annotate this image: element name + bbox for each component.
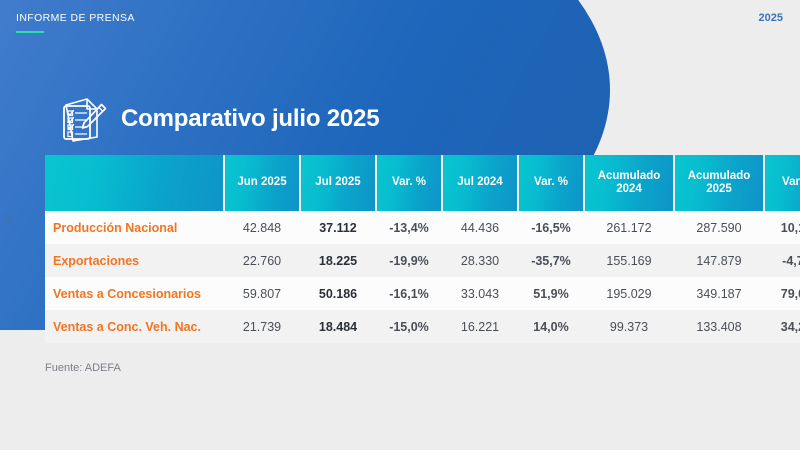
column-header-var3: Var. %	[764, 155, 800, 211]
column-header-acum2024: Acumulado 2024	[584, 155, 674, 211]
cell-jul2025: 50.186	[300, 277, 376, 310]
cell-acum2024: 195.029	[584, 277, 674, 310]
cell-var3: 10,1%	[764, 211, 800, 244]
row-label: Producción Nacional	[45, 211, 224, 244]
source-note: Fuente: ADEFA	[45, 362, 121, 374]
table-header: Jun 2025 Jul 2025 Var. % Jul 2024 Var. %…	[45, 155, 800, 211]
cell-jul2024: 16.221	[442, 310, 518, 343]
accent-underline	[16, 31, 44, 33]
table-header-row: Jun 2025 Jul 2025 Var. % Jul 2024 Var. %…	[45, 155, 800, 211]
clipboard-checklist-pencil-icon	[57, 93, 109, 145]
cell-acum2025: 133.408	[674, 310, 764, 343]
cell-var1: -16,1%	[376, 277, 442, 310]
column-header-jul2024: Jul 2024	[442, 155, 518, 211]
page-number: 60	[4, 212, 16, 224]
cell-jul2025: 18.225	[300, 244, 376, 277]
table-body: Producción Nacional 42.848 37.112 -13,4%…	[45, 211, 800, 343]
table-row: Exportaciones 22.760 18.225 -19,9% 28.33…	[45, 244, 800, 277]
cell-jun2025: 59.807	[224, 277, 300, 310]
cell-acum2024: 99.373	[584, 310, 674, 343]
cell-var3: -4,7%	[764, 244, 800, 277]
cell-jul2024: 28.330	[442, 244, 518, 277]
cell-var3: 79,0%	[764, 277, 800, 310]
slide-title-block: Comparativo julio 2025	[57, 93, 379, 145]
cell-var1: -13,4%	[376, 211, 442, 244]
table-row: Ventas a Concesionarios 59.807 50.186 -1…	[45, 277, 800, 310]
column-header-label	[45, 155, 224, 211]
cell-acum2024: 155.169	[584, 244, 674, 277]
cell-jul2025: 18.484	[300, 310, 376, 343]
cell-acum2025: 287.590	[674, 211, 764, 244]
cell-var2: 51,9%	[518, 277, 584, 310]
column-header-jul2025: Jul 2025	[300, 155, 376, 211]
column-header-var2: Var. %	[518, 155, 584, 211]
comparison-table-container: Jun 2025 Jul 2025 Var. % Jul 2024 Var. %…	[45, 155, 763, 343]
report-label: INFORME DE PRENSA	[16, 12, 135, 24]
cell-jun2025: 42.848	[224, 211, 300, 244]
cell-var2: 14,0%	[518, 310, 584, 343]
cell-acum2024: 261.172	[584, 211, 674, 244]
cell-var1: -15,0%	[376, 310, 442, 343]
cell-jul2024: 44.436	[442, 211, 518, 244]
column-header-jun2025: Jun 2025	[224, 155, 300, 211]
comparison-table: Jun 2025 Jul 2025 Var. % Jul 2024 Var. %…	[45, 155, 800, 343]
cell-var2: -16,5%	[518, 211, 584, 244]
cell-var1: -19,9%	[376, 244, 442, 277]
cell-jul2025: 37.112	[300, 211, 376, 244]
cell-var3: 34,2%	[764, 310, 800, 343]
cell-jun2025: 21.739	[224, 310, 300, 343]
cell-jun2025: 22.760	[224, 244, 300, 277]
row-label: Ventas a Conc. Veh. Nac.	[45, 310, 224, 343]
page-title: Comparativo julio 2025	[121, 105, 379, 133]
cell-var2: -35,7%	[518, 244, 584, 277]
year-label: 2025	[759, 12, 783, 24]
table-row: Ventas a Conc. Veh. Nac. 21.739 18.484 -…	[45, 310, 800, 343]
cell-jul2024: 33.043	[442, 277, 518, 310]
cell-acum2025: 349.187	[674, 277, 764, 310]
row-label: Exportaciones	[45, 244, 224, 277]
row-label: Ventas a Concesionarios	[45, 277, 224, 310]
table-row: Producción Nacional 42.848 37.112 -13,4%…	[45, 211, 800, 244]
column-header-var1: Var. %	[376, 155, 442, 211]
column-header-acum2025: Acumulado 2025	[674, 155, 764, 211]
cell-acum2025: 147.879	[674, 244, 764, 277]
